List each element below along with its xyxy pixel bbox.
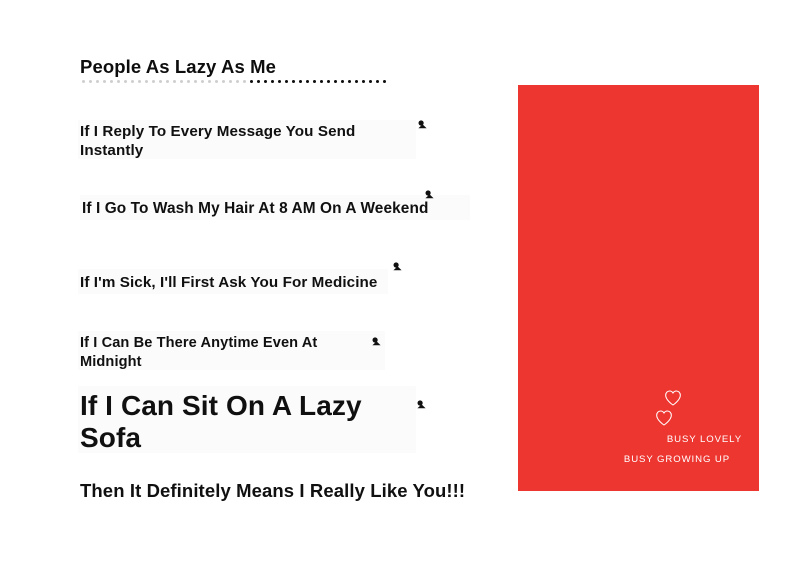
list-item-label: If I Can Sit On A Lazy Sofa [80, 390, 370, 455]
heart-outline-icon [654, 408, 674, 428]
poster-title-block: People As Lazy As Me [80, 57, 410, 78]
cursor-mark-icon [415, 399, 429, 413]
closing-line-block: Then It Definitely Means I Really Like Y… [80, 479, 480, 503]
list-item-2: If I Go To Wash My Hair At 8 AM On A Wee… [82, 199, 472, 219]
card-caption: BUSY LOVELY BUSY GROWING UP [518, 430, 742, 470]
title-dotted-underline [82, 78, 390, 86]
cursor-mark-icon [423, 189, 437, 203]
heart-outline-icon [663, 388, 683, 408]
list-item-label: If I'm Sick, I'll First Ask You For Medi… [80, 273, 420, 292]
list-item-label: If I Go To Wash My Hair At 8 AM On A Wee… [82, 199, 472, 219]
cursor-mark-icon [391, 261, 405, 275]
card-caption-line-2: BUSY GROWING UP [518, 450, 742, 470]
red-card: BUSY LOVELY BUSY GROWING UP [518, 85, 759, 491]
list-item-1: If I Reply To Every Message You Send Ins… [80, 122, 420, 161]
list-item-4: If I Can Be There Anytime Even At Midnig… [80, 334, 380, 371]
card-caption-line-1: BUSY LOVELY [518, 430, 742, 450]
poster-text-column: People As Lazy As Me If I Reply To Every… [0, 0, 500, 564]
closing-line: Then It Definitely Means I Really Like Y… [80, 479, 480, 503]
list-item-3: If I'm Sick, I'll First Ask You For Medi… [80, 273, 420, 292]
page-title: People As Lazy As Me [80, 57, 276, 77]
list-item-label: If I Can Be There Anytime Even At Midnig… [80, 334, 340, 371]
list-item-5: If I Can Sit On A Lazy Sofa [80, 390, 420, 455]
list-item-label: If I Reply To Every Message You Send Ins… [80, 122, 380, 161]
cursor-mark-icon [370, 336, 384, 350]
poster-canvas: People As Lazy As Me If I Reply To Every… [0, 0, 790, 564]
cursor-mark-icon [416, 119, 430, 133]
